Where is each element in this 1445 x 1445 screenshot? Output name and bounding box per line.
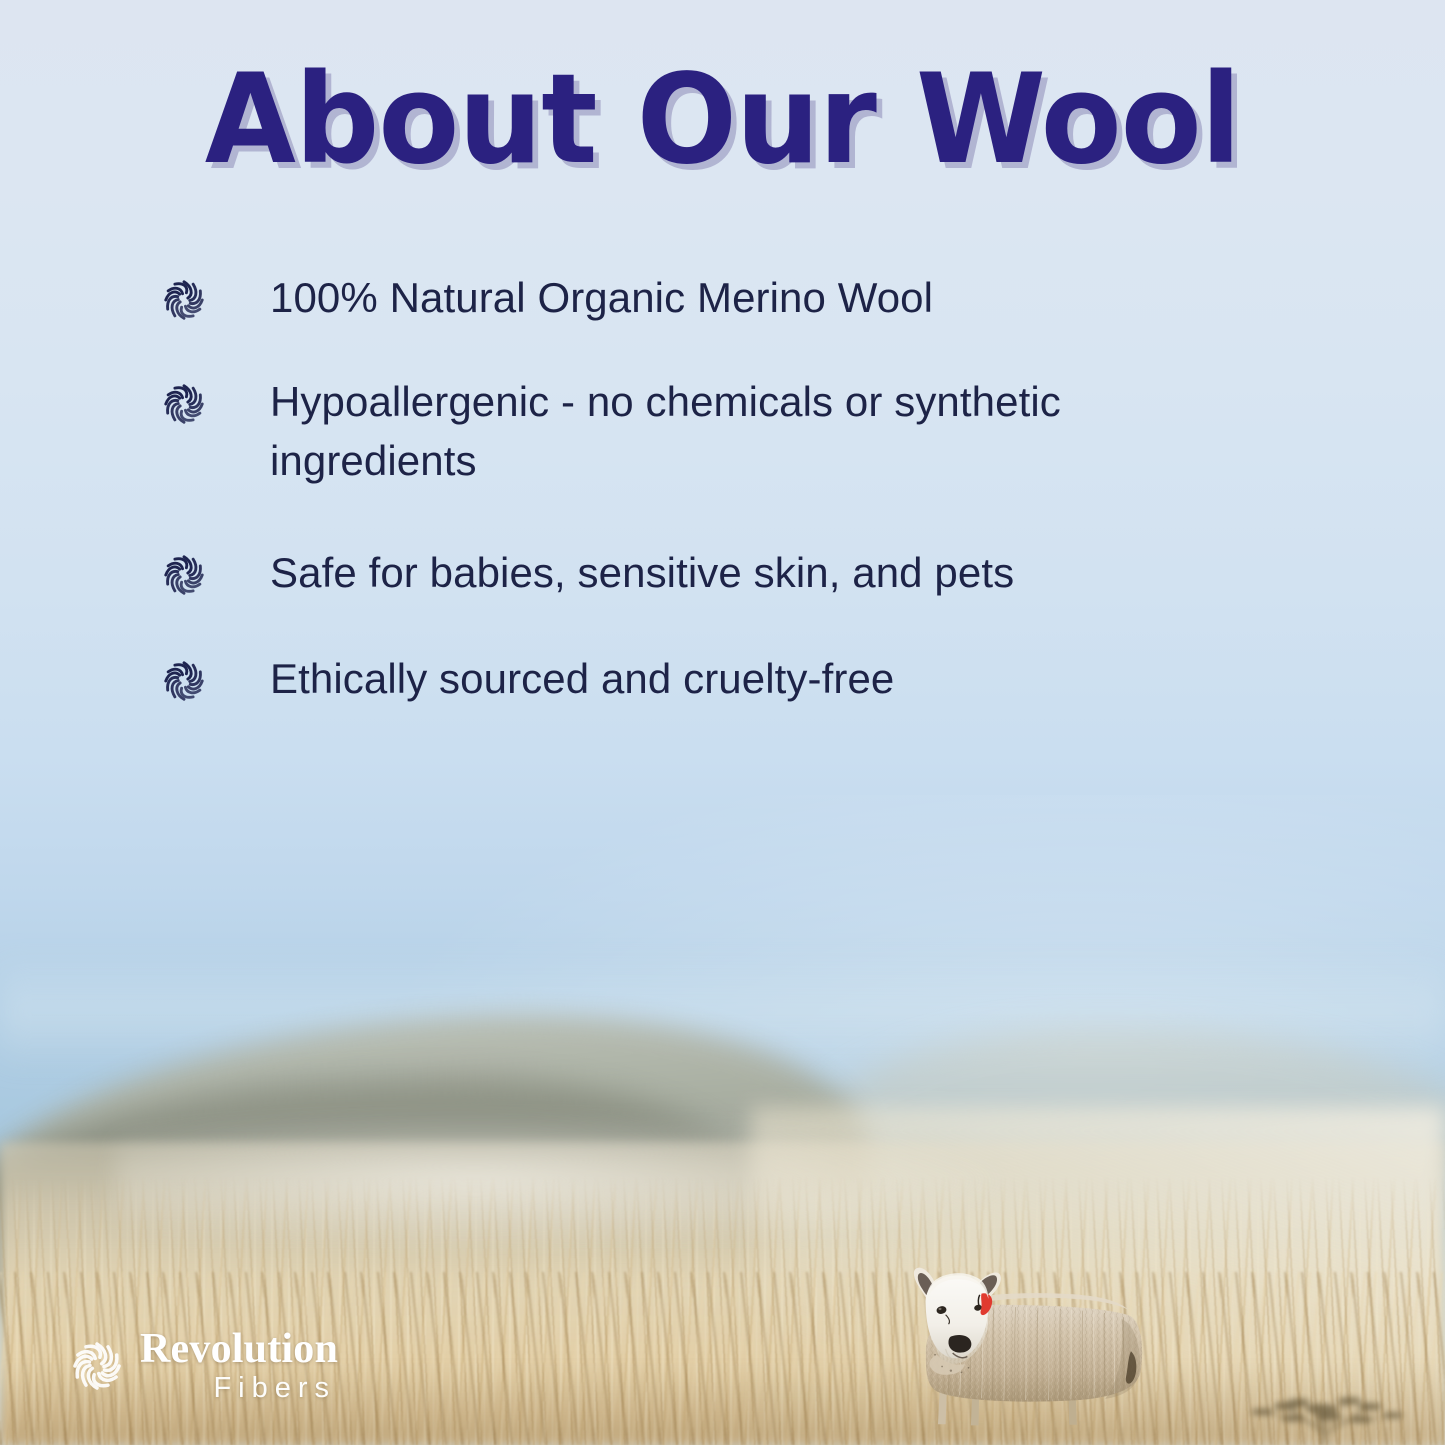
fiber-swirl-icon [68, 1337, 126, 1395]
fiber-swirl-icon [160, 276, 208, 324]
infographic-canvas: About Our Wool [0, 0, 1445, 1445]
brand-subtitle: Fibers [140, 1374, 338, 1403]
brand-wordmark: Revolution Fibers [140, 1328, 338, 1403]
brand-name: Revolution [140, 1326, 338, 1372]
list-item: 100% Natural Organic Merino Wool [160, 268, 1290, 328]
list-item-label: Ethically sourced and cruelty-free [270, 649, 894, 709]
fiber-swirl-icon [160, 551, 208, 599]
list-item: Hypoallergenic - no chemicals or synthet… [160, 372, 1290, 491]
page-title: About Our Wool [36, 58, 1409, 182]
sheep-illustration [527, 1263, 1445, 1428]
fiber-swirl-icon [160, 380, 208, 428]
list-item-label: 100% Natural Organic Merino Wool [270, 268, 933, 328]
list-item: Safe for babies, sensitive skin, and pet… [160, 543, 1290, 603]
list-item-label: Hypoallergenic - no chemicals or synthet… [270, 372, 1270, 491]
list-item: Ethically sourced and cruelty-free [160, 649, 1290, 709]
fiber-swirl-icon [160, 657, 208, 705]
brand-logo[interactable]: Revolution Fibers [68, 1328, 338, 1403]
list-item-label: Safe for babies, sensitive skin, and pet… [270, 543, 1014, 603]
benefits-list: 100% Natural Organic Merino Wool [160, 268, 1290, 752]
